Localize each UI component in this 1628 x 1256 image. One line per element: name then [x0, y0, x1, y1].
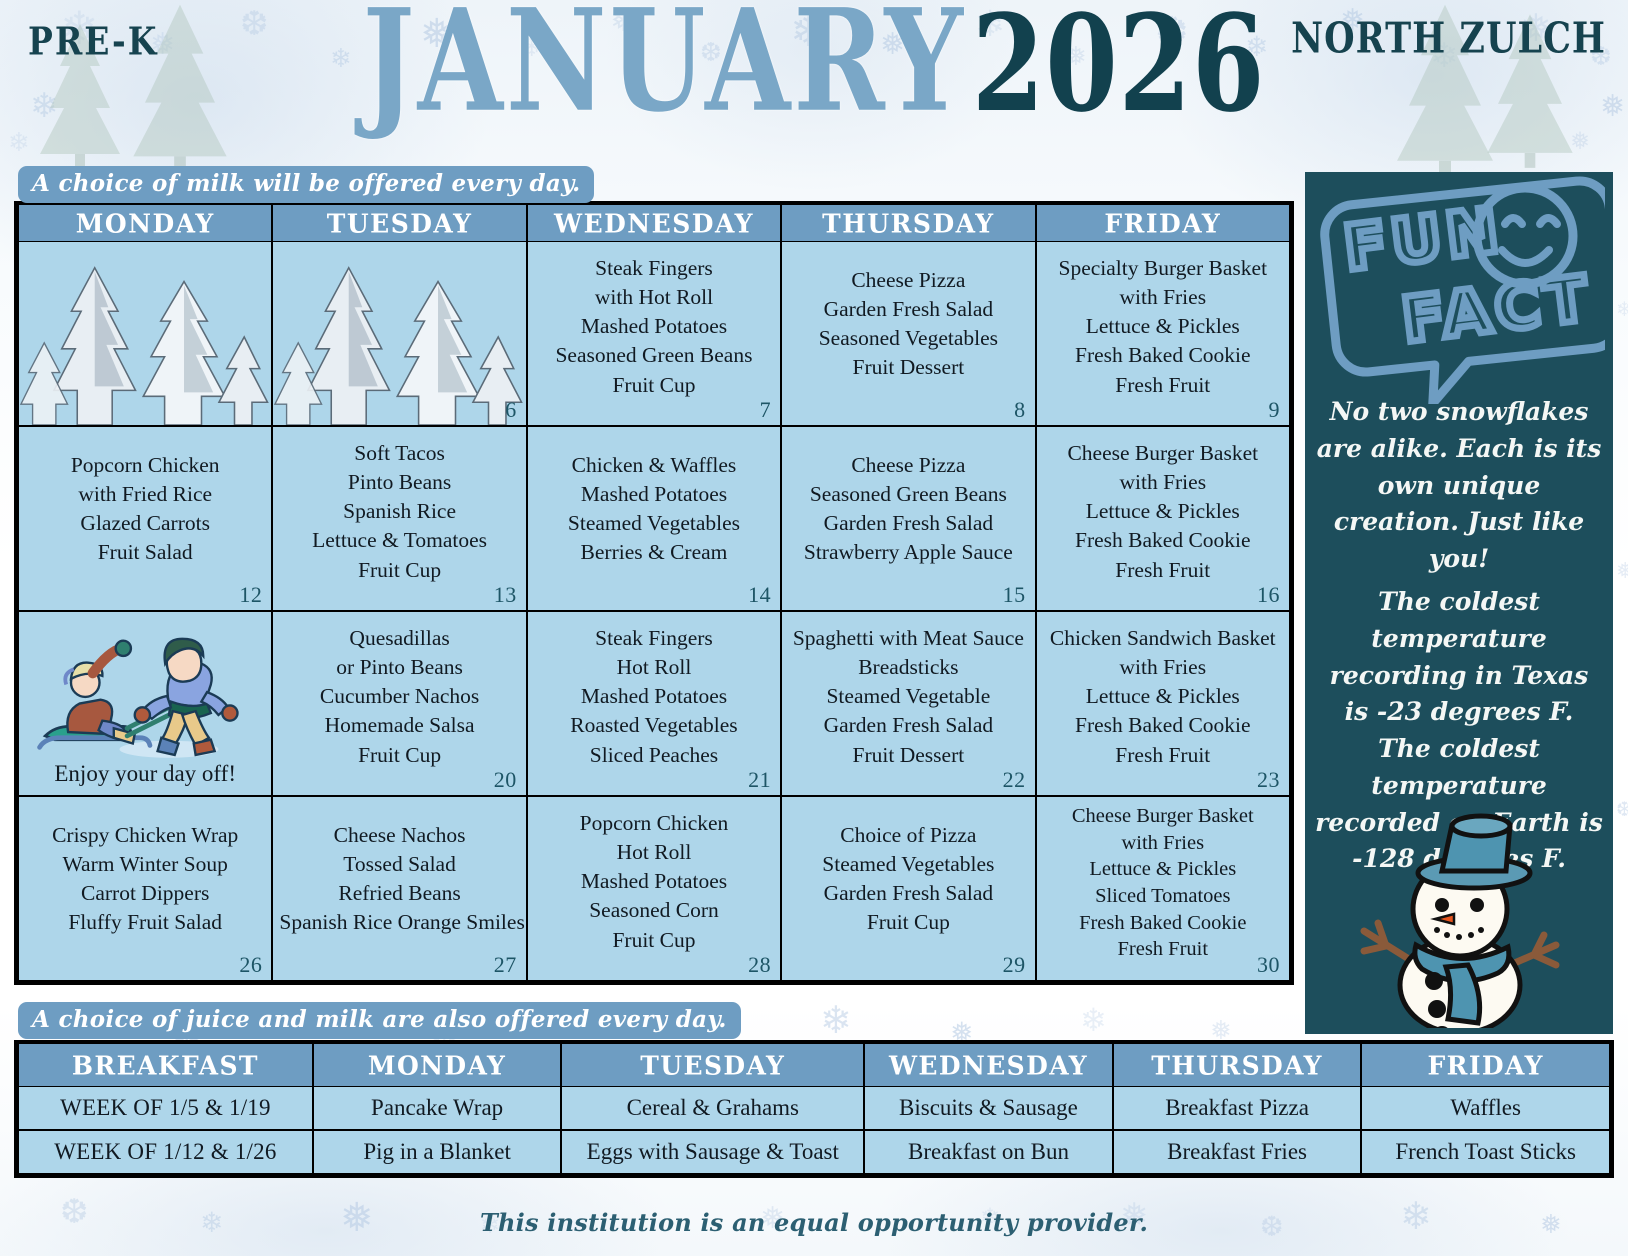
children-sledding-illustration — [19, 616, 271, 759]
menu-item: Lettuce & Pickles — [1043, 856, 1283, 883]
lunch-calendar: MONDAYTUESDAYWEDNESDAYTHURSDAYFRIDAY — [14, 201, 1294, 985]
date-number: 29 — [1003, 952, 1026, 978]
fun-fact-sidebar: FUN FACT No two snowflakes are alike. Ea… — [1305, 172, 1613, 1034]
fun-fact-speech-bubble: FUN FACT — [1313, 174, 1605, 404]
juice-notice-banner: A choice of juice and milk are also offe… — [18, 1002, 741, 1039]
menu-item: Specialty Burger Basket — [1043, 254, 1283, 283]
date-number: 13 — [494, 582, 517, 608]
date-number: 8 — [1014, 397, 1026, 423]
menu-item-list: Steak FingersHot RollMashed PotatoesRoas… — [528, 612, 780, 770]
lunch-day-cell: Cheese Burger Basketwith FriesLettuce & … — [1036, 426, 1290, 611]
menu-item-list: Steak Fingerswith Hot RollMashed Potatoe… — [528, 242, 780, 400]
breakfast-menu-item: French Toast Sticks — [1361, 1130, 1610, 1174]
lunch-week-row: 6Steak Fingerswith Hot RollMashed Potato… — [18, 241, 1290, 426]
menu-item: Choice of Pizza — [788, 821, 1028, 850]
menu-item: Berries & Cream — [534, 538, 774, 567]
date-number: 26 — [239, 952, 262, 978]
date-number: 12 — [239, 582, 262, 608]
menu-item-list: Choice of PizzaSteamed VegetablesGarden … — [782, 797, 1034, 949]
menu-item: Lettuce & Pickles — [1043, 312, 1283, 341]
menu-item: Carrot Dippers — [25, 879, 265, 908]
menu-item: Steak Fingers — [534, 624, 774, 653]
breakfast-table-body: WEEK OF 1/5 & 1/19Pancake WrapCereal & G… — [18, 1086, 1610, 1174]
menu-item: Chicken & Waffles — [534, 451, 774, 480]
lunch-day-header-thursday: THURSDAY — [781, 204, 1035, 242]
breakfast-week-label: WEEK OF 1/5 & 1/19 — [18, 1086, 313, 1130]
menu-item: Seasoned Green Beans — [788, 480, 1028, 509]
menu-item: Roasted Vegetables — [534, 711, 774, 740]
lunch-day-cell: Spaghetti with Meat SauceBreadsticksStea… — [781, 611, 1035, 796]
menu-item: Strawberry Apple Sauce — [788, 538, 1028, 567]
menu-item: Fresh Fruit — [1043, 556, 1283, 585]
title-month: JANUARY — [363, 0, 966, 143]
breakfast-header-row: BREAKFASTMONDAYTUESDAYWEDNESDAYTHURSDAYF… — [18, 1044, 1610, 1086]
menu-item: Lettuce & Tomatoes — [279, 526, 519, 555]
lunch-day-cell: Steak FingersHot RollMashed PotatoesRoas… — [527, 611, 781, 796]
menu-item-list: Popcorn Chickenwith Fried RiceGlazed Car… — [19, 427, 271, 579]
menu-item: Seasoned Green Beans — [534, 341, 774, 370]
menu-item: Warm Winter Soup — [25, 850, 265, 879]
day-off-note: Enjoy your day off! — [19, 761, 271, 787]
menu-item-list: Specialty Burger Basketwith FriesLettuce… — [1037, 242, 1289, 400]
lunch-day-header-row: MONDAYTUESDAYWEDNESDAYTHURSDAYFRIDAY — [18, 205, 1290, 241]
breakfast-menu-item: Cereal & Grahams — [561, 1086, 864, 1130]
breakfast-menu-item: Breakfast Pizza — [1113, 1086, 1362, 1130]
lunch-day-cell: Enjoy your day off! — [18, 611, 272, 796]
menu-item: Fresh Baked Cookie — [1043, 341, 1283, 370]
menu-item: Sliced Tomatoes — [1043, 883, 1283, 910]
menu-item: Fruit Cup — [279, 741, 519, 770]
menu-item-list: Chicken Sandwich Basketwith FriesLettuce… — [1037, 612, 1289, 770]
breakfast-menu-item: Pig in a Blanket — [313, 1130, 562, 1174]
menu-item: Spaghetti with Meat Sauce — [788, 624, 1028, 653]
menu-item: Garden Fresh Salad — [788, 879, 1028, 908]
lunch-day-cell: Soft TacosPinto BeansSpanish RiceLettuce… — [272, 426, 526, 611]
lunch-day-cell: Popcorn Chickenwith Fried RiceGlazed Car… — [18, 426, 272, 611]
lunch-week-row: Popcorn Chickenwith Fried RiceGlazed Car… — [18, 426, 1290, 611]
menu-item: with Fries — [1043, 468, 1283, 497]
lunch-day-cell: Steak Fingerswith Hot RollMashed Potatoe… — [527, 241, 781, 426]
date-number: 16 — [1257, 582, 1280, 608]
menu-item: Mashed Potatoes — [534, 480, 774, 509]
date-number: 22 — [1003, 767, 1026, 793]
date-number: 23 — [1257, 767, 1280, 793]
menu-item: Fruit Cup — [279, 556, 519, 585]
menu-item: Fruit Dessert — [788, 353, 1028, 382]
lunch-calendar-body: 6Steak Fingerswith Hot RollMashed Potato… — [18, 241, 1290, 981]
breakfast-menu-item: Eggs with Sausage & Toast — [561, 1130, 864, 1174]
menu-item: Lettuce & Pickles — [1043, 497, 1283, 526]
menu-item: Pinto Beans — [279, 468, 519, 497]
menu-item: Popcorn Chicken — [534, 809, 774, 838]
menu-item: Fruit Dessert — [788, 741, 1028, 770]
menu-item: Chicken Sandwich Basket — [1043, 624, 1283, 653]
lunch-day-cell: Quesadillasor Pinto BeansCucumber Nachos… — [272, 611, 526, 796]
date-number: 21 — [748, 767, 771, 793]
menu-item: with Fries — [1043, 283, 1283, 312]
menu-item: Fruit Cup — [534, 926, 774, 955]
menu-item: Steamed Vegetables — [534, 509, 774, 538]
menu-item: Fresh Fruit — [1043, 741, 1283, 770]
lunch-day-cell: Chicken Sandwich Basketwith FriesLettuce… — [1036, 611, 1290, 796]
menu-item: Hot Roll — [534, 653, 774, 682]
breakfast-row: WEEK OF 1/5 & 1/19Pancake WrapCereal & G… — [18, 1086, 1610, 1130]
fun-fact-text-1: No two snowflakes are alike. Each is its… — [1315, 394, 1603, 578]
menu-item-list: Chicken & WafflesMashed PotatoesSteamed … — [528, 427, 780, 579]
menu-item: Crispy Chicken Wrap — [25, 821, 265, 850]
milk-notice-banner: A choice of milk will be offered every d… — [18, 166, 594, 203]
menu-item: Fresh Fruit — [1043, 371, 1283, 400]
menu-item: Cucumber Nachos — [279, 682, 519, 711]
menu-item: Spanish Rice Orange Smiles — [279, 908, 519, 937]
menu-item-list: Cheese Burger Basketwith FriesLettuce & … — [1037, 427, 1289, 585]
menu-item: or Pinto Beans — [279, 653, 519, 682]
menu-item: with Fries — [1043, 653, 1283, 682]
fact-label: FACT — [1398, 261, 1596, 357]
menu-item: Cheese Burger Basket — [1043, 803, 1283, 830]
menu-item: Spanish Rice — [279, 497, 519, 526]
page-title: JANUARY 2026 — [363, 14, 1266, 143]
menu-item: Fresh Baked Cookie — [1043, 711, 1283, 740]
page-header: PRE-K NORTH ZULCH JANUARY 2026 — [0, 0, 1628, 160]
date-number: 20 — [494, 767, 517, 793]
breakfast-menu-item: Breakfast on Bun — [864, 1130, 1113, 1174]
menu-item: Steamed Vegetable — [788, 682, 1028, 711]
date-number: 7 — [760, 397, 772, 423]
menu-item: with Fries — [1043, 830, 1283, 857]
menu-item: Glazed Carrots — [25, 509, 265, 538]
equal-opportunity-footer: This institution is an equal opportunity… — [0, 1208, 1628, 1237]
menu-item: Garden Fresh Salad — [788, 295, 1028, 324]
menu-item: Hot Roll — [534, 838, 774, 867]
menu-item: Cheese Burger Basket — [1043, 439, 1283, 468]
menu-item: with Hot Roll — [534, 283, 774, 312]
lunch-week-row: Enjoy your day off!Quesadillasor Pinto B… — [18, 611, 1290, 796]
date-number: 27 — [494, 952, 517, 978]
lunch-day-cell: Cheese PizzaSeasoned Green BeansGarden F… — [781, 426, 1035, 611]
menu-item-list: Cheese Burger Basketwith FriesLettuce & … — [1037, 797, 1289, 963]
snowy-pine-trees-photo — [273, 242, 525, 425]
breakfast-menu-item: Breakfast Fries — [1113, 1130, 1362, 1174]
menu-item: Tossed Salad — [279, 850, 519, 879]
menu-item-list: Popcorn ChickenHot RollMashed PotatoesSe… — [528, 797, 780, 955]
grade-label: PRE-K — [28, 19, 158, 64]
snowy-pine-trees-photo — [19, 242, 271, 425]
menu-item-list: Cheese PizzaGarden Fresh SaladSeasoned V… — [782, 242, 1034, 394]
lunch-day-cell: Crispy Chicken WrapWarm Winter SoupCarro… — [18, 796, 272, 981]
menu-item: Seasoned Vegetables — [788, 324, 1028, 353]
menu-item-list: Cheese PizzaSeasoned Green BeansGarden F… — [782, 427, 1034, 579]
breakfast-row: WEEK OF 1/12 & 1/26Pig in a BlanketEggs … — [18, 1130, 1610, 1174]
lunch-day-cell — [18, 241, 272, 426]
menu-item: Homemade Salsa — [279, 711, 519, 740]
lunch-day-header-wednesday: WEDNESDAY — [527, 204, 781, 242]
menu-item: Fluffy Fruit Salad — [25, 908, 265, 937]
date-number: 30 — [1257, 952, 1280, 978]
lunch-day-cell: Cheese Burger Basketwith FriesLettuce & … — [1036, 796, 1290, 981]
menu-item: Cheese Nachos — [279, 821, 519, 850]
title-year: 2026 — [972, 0, 1265, 142]
menu-item: Fresh Baked Cookie — [1043, 910, 1283, 937]
breakfast-table: BREAKFASTMONDAYTUESDAYWEDNESDAYTHURSDAYF… — [14, 1040, 1614, 1178]
menu-item-list: Soft TacosPinto BeansSpanish RiceLettuce… — [273, 427, 525, 585]
menu-item: with Fried Rice — [25, 480, 265, 509]
lunch-day-header-monday: MONDAY — [18, 204, 272, 242]
breakfast-menu-item: Waffles — [1361, 1086, 1610, 1130]
menu-item: Cheese Pizza — [788, 266, 1028, 295]
menu-item: Steak Fingers — [534, 254, 774, 283]
lunch-day-cell: Specialty Burger Basketwith FriesLettuce… — [1036, 241, 1290, 426]
lunch-day-cell: Cheese PizzaGarden Fresh SaladSeasoned V… — [781, 241, 1035, 426]
breakfast-menu-item: Pancake Wrap — [313, 1086, 562, 1130]
breakfast-header-wednesday: WEDNESDAY — [864, 1043, 1113, 1087]
date-number: 15 — [1003, 582, 1026, 608]
menu-item-list: Quesadillasor Pinto BeansCucumber Nachos… — [273, 612, 525, 770]
date-number: 28 — [748, 952, 771, 978]
lunch-day-cell: Choice of PizzaSteamed VegetablesGarden … — [781, 796, 1035, 981]
menu-item: Seasoned Corn — [534, 896, 774, 925]
breakfast-menu-item: Biscuits & Sausage — [864, 1086, 1113, 1130]
menu-item: Fruit Cup — [534, 371, 774, 400]
menu-item: Refried Beans — [279, 879, 519, 908]
lunch-day-cell: 6 — [272, 241, 526, 426]
menu-item-list: Crispy Chicken WrapWarm Winter SoupCarro… — [19, 797, 271, 949]
menu-item: Cheese Pizza — [788, 451, 1028, 480]
menu-item-list: Cheese NachosTossed SaladRefried BeansSp… — [273, 797, 525, 949]
breakfast-header-friday: FRIDAY — [1361, 1043, 1610, 1087]
menu-item: Mashed Potatoes — [534, 312, 774, 341]
lunch-day-header-tuesday: TUESDAY — [272, 204, 526, 242]
menu-item: Sliced Peaches — [534, 741, 774, 770]
breakfast-week-label: WEEK OF 1/12 & 1/26 — [18, 1130, 313, 1174]
menu-item: Fruit Salad — [25, 538, 265, 567]
menu-item: Quesadillas — [279, 624, 519, 653]
menu-item: Soft Tacos — [279, 439, 519, 468]
menu-item: Breadsticks — [788, 653, 1028, 682]
menu-item-list: Spaghetti with Meat SauceBreadsticksStea… — [782, 612, 1034, 770]
school-name-label: NORTH ZULCH — [1291, 14, 1606, 63]
lunch-day-cell: Cheese NachosTossed SaladRefried BeansSp… — [272, 796, 526, 981]
date-number: 6 — [505, 397, 517, 423]
snowman-illustration — [1334, 813, 1584, 1028]
breakfast-header-breakfast: BREAKFAST — [18, 1043, 313, 1087]
menu-item: Steamed Vegetables — [788, 850, 1028, 879]
lunch-day-cell: Chicken & WafflesMashed PotatoesSteamed … — [527, 426, 781, 611]
menu-item: Fruit Cup — [788, 908, 1028, 937]
lunch-week-row: Crispy Chicken WrapWarm Winter SoupCarro… — [18, 796, 1290, 981]
menu-item: Mashed Potatoes — [534, 867, 774, 896]
lunch-day-header-friday: FRIDAY — [1036, 204, 1290, 242]
menu-item: Mashed Potatoes — [534, 682, 774, 711]
date-number: 9 — [1269, 397, 1281, 423]
lunch-day-cell: Popcorn ChickenHot RollMashed PotatoesSe… — [527, 796, 781, 981]
menu-item: Garden Fresh Salad — [788, 509, 1028, 538]
breakfast-header-monday: MONDAY — [313, 1043, 562, 1087]
menu-item: Fresh Fruit — [1043, 936, 1283, 963]
breakfast-header-thursday: THURSDAY — [1113, 1043, 1362, 1087]
menu-item: Fresh Baked Cookie — [1043, 526, 1283, 555]
date-number: 14 — [748, 582, 771, 608]
breakfast-header-tuesday: TUESDAY — [561, 1043, 864, 1087]
menu-item: Lettuce & Pickles — [1043, 682, 1283, 711]
menu-item: Garden Fresh Salad — [788, 711, 1028, 740]
menu-item: Popcorn Chicken — [25, 451, 265, 480]
